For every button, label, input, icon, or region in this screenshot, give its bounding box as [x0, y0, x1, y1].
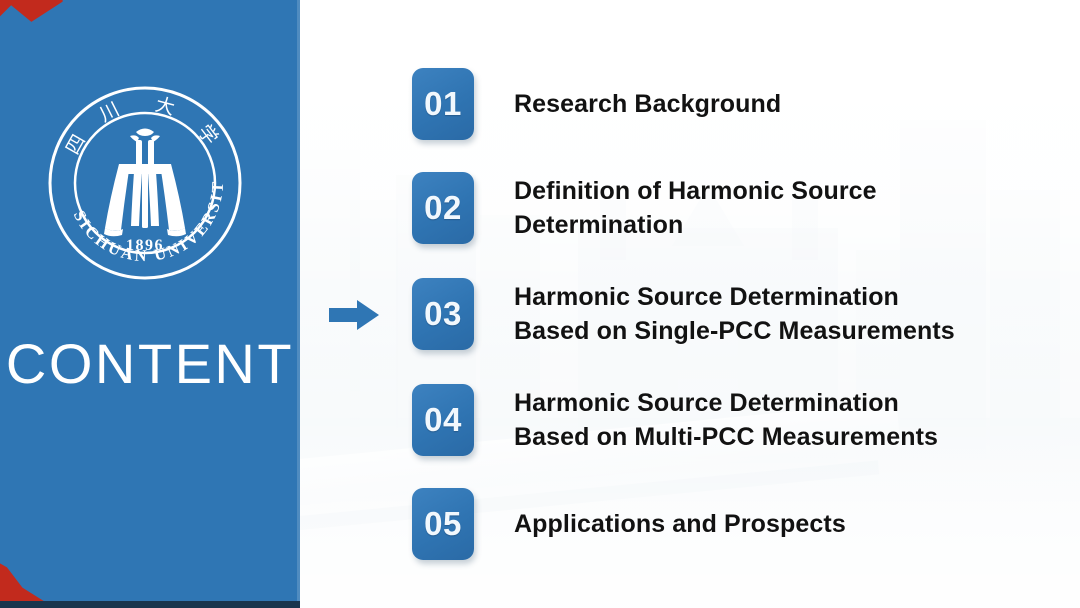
agenda-number-badge: 02	[412, 172, 474, 244]
svg-text:大: 大	[153, 94, 177, 120]
red-accent-top-left	[0, 0, 70, 66]
svg-text:川: 川	[96, 98, 123, 126]
panel-bottom-strip	[0, 601, 300, 608]
agenda-number-badge: 01	[412, 68, 474, 140]
agenda-item-02[interactable]: 02 Definition of Harmonic Source Determi…	[412, 172, 877, 244]
sichuan-university-logo: 四 川 大 学 SICHUAN UNIVERSITY	[42, 80, 248, 286]
agenda-number-badge: 03	[412, 278, 474, 350]
agenda-item-05[interactable]: 05 Applications and Prospects	[412, 488, 846, 560]
agenda-item-04[interactable]: 04 Harmonic Source Determination Based o…	[412, 384, 938, 456]
agenda-item-title: Research Background	[514, 87, 781, 122]
agenda-item-title: Applications and Prospects	[514, 507, 846, 542]
agenda-number-badge: 05	[412, 488, 474, 560]
agenda-list: 01 Research Background 02 Definition of …	[300, 0, 1080, 608]
presentation-slide: 01 Research Background 02 Definition of …	[0, 0, 1080, 608]
page-title: CONTENT	[0, 336, 300, 392]
agenda-item-title: Harmonic Source Determination Based on S…	[514, 280, 955, 349]
content-pane: 01 Research Background 02 Definition of …	[300, 0, 1080, 608]
agenda-item-title: Definition of Harmonic Source Determinat…	[514, 174, 877, 243]
red-accent-bottom-left	[0, 544, 84, 608]
svg-text:四: 四	[62, 130, 91, 158]
agenda-item-title: Harmonic Source Determination Based on M…	[514, 386, 938, 455]
left-brand-panel: 四 川 大 学 SICHUAN UNIVERSITY	[0, 0, 300, 608]
panel-edge-highlight	[297, 0, 300, 608]
svg-text:1896: 1896	[126, 237, 164, 254]
svg-text:学: 学	[193, 121, 222, 149]
agenda-number-badge: 04	[412, 384, 474, 456]
agenda-item-01[interactable]: 01 Research Background	[412, 68, 781, 140]
agenda-item-03[interactable]: 03 Harmonic Source Determination Based o…	[412, 278, 955, 350]
right-arrow-icon	[328, 298, 380, 332]
